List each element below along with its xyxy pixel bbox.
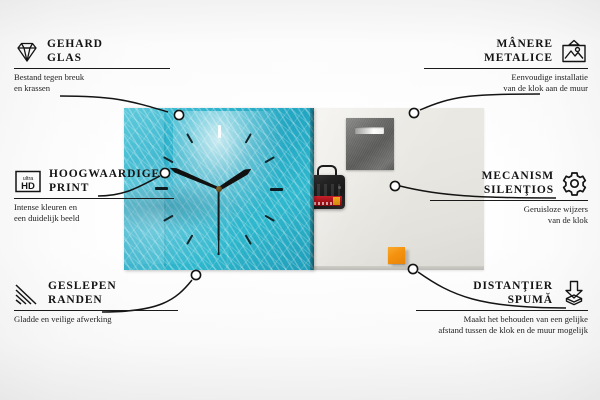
metal-wall-bracket — [346, 118, 394, 170]
feature-description: Intense kleuren en een duidelijk beeld — [14, 202, 186, 224]
clock-right-edge — [310, 108, 314, 270]
feature-desc-line-1: Maakt het behouden van een gelijke — [404, 314, 588, 325]
mechanism-indicator — [338, 186, 341, 189]
clock-tick-3 — [219, 188, 283, 190]
feature-description: Gladde en veilige afwerking — [14, 314, 190, 325]
feature-desc-line-1: Eenvoudige installatie — [412, 72, 588, 83]
bracket-grain — [346, 118, 394, 170]
feature-rule — [416, 310, 588, 311]
feature-desc-line-2: een duidelijk beeld — [14, 213, 186, 224]
feature-desc-line-2: van de klok aan de muur — [412, 83, 588, 94]
feature-desc-line-2: van de klok — [418, 215, 588, 226]
feature-title: MECANISM SILENŢIOS — [482, 170, 554, 197]
feature-desc-line-2: en krassen — [14, 83, 182, 94]
feature-rule — [424, 68, 588, 69]
foam-spacer — [388, 247, 405, 264]
clock-tick-0 — [218, 125, 220, 189]
ultra-hd-icon: ultra HD — [14, 169, 42, 194]
feature-header: MECANISM SILENŢIOS — [418, 170, 588, 197]
feature-title: MÂNERE METALICE — [484, 38, 553, 65]
feature-gehard-glas: GEHARD GLAS Bestand tegen breuk en krass… — [14, 38, 182, 94]
beveled-edge-icon — [14, 282, 41, 306]
feature-desc-line-1: Intense kleuren en — [14, 202, 186, 213]
down-arrow-pad-icon — [560, 280, 588, 307]
feature-title: GESLEPEN RANDEN — [48, 280, 117, 307]
feature-header: DISTANŢIER SPUMĂ — [404, 280, 588, 307]
feature-title: HOOGWAARDIGE PRINT — [49, 168, 160, 195]
feature-title: GEHARD GLAS — [47, 38, 103, 65]
battery-positive-terminal — [333, 197, 340, 205]
feature-rule — [14, 68, 170, 69]
feature-desc-line-1: Gladde en veilige afwerking — [14, 314, 190, 325]
svg-text:HD: HD — [21, 181, 35, 192]
feature-description: Maakt het behouden van een gelijke afsta… — [404, 314, 588, 336]
feature-description: Eenvoudige installatie van de klok aan d… — [412, 72, 588, 94]
hanging-picture-frame-icon — [560, 39, 588, 64]
feature-desc-line-1: Geruisloze wijzers — [418, 204, 588, 215]
feature-header: ultra HD HOOGWAARDIGE PRINT — [14, 168, 186, 195]
feature-rule — [14, 198, 174, 199]
feature-rule — [14, 310, 178, 311]
mechanism-detail — [310, 184, 340, 196]
gear-icon — [561, 171, 588, 196]
feature-manere-metalice: MÂNERE METALICE Eenvoudige installatie v… — [412, 38, 588, 94]
bracket-slot — [355, 127, 384, 134]
panel-bottom-edge — [310, 266, 484, 270]
feature-desc-line-2: afstand tussen de klok en de muur mogeli… — [404, 325, 588, 336]
feature-geslepen-randen: GESLEPEN RANDEN Gladde en veilige afwerk… — [14, 280, 190, 325]
feature-description: Bestand tegen breuk en krassen — [14, 72, 182, 94]
feature-desc-line-1: Bestand tegen breuk — [14, 72, 182, 83]
feature-rule — [430, 200, 588, 201]
feature-distantier-spuma: DISTANŢIER SPUMĂ Maakt het behouden van … — [404, 280, 588, 336]
feature-description: Geruisloze wijzers van de klok — [418, 204, 588, 226]
feature-title: DISTANŢIER SPUMĂ — [473, 280, 553, 307]
clock-center-cap — [216, 186, 222, 192]
feature-header: GEHARD GLAS — [14, 38, 182, 65]
clock-second-hand — [218, 189, 220, 255]
diamond-icon — [14, 40, 40, 64]
feature-header: GESLEPEN RANDEN — [14, 280, 190, 307]
feature-mecanism-silentios: MECANISM SILENŢIOS Geruisloze wijzers va… — [418, 170, 588, 226]
infographic-canvas: GEHARD GLAS Bestand tegen breuk en krass… — [0, 0, 600, 400]
feature-header: MÂNERE METALICE — [412, 38, 588, 65]
feature-hoogwaardige-print: ultra HD HOOGWAARDIGE PRINT Intense kleu… — [14, 168, 186, 224]
